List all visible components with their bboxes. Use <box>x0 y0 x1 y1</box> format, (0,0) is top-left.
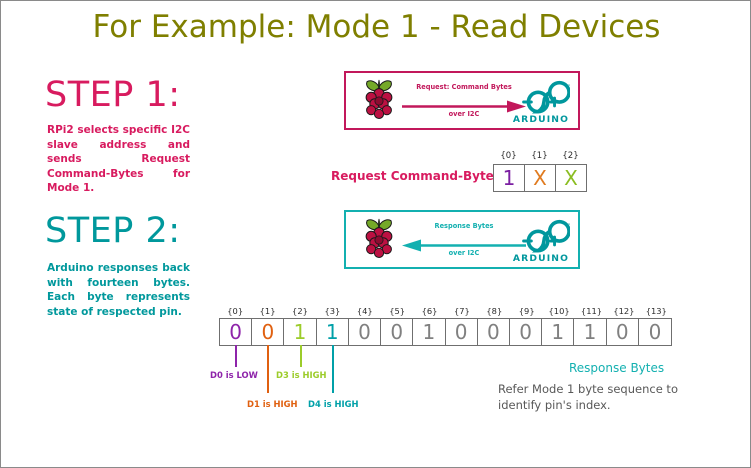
response-byte-cell-7: 0 <box>446 319 478 345</box>
request-arrow-label-top: Request: Command Bytes <box>402 83 526 91</box>
response-byte-sequence: {0} {1} {2} {3} {4} {5} {6} {7} {8} {9} … <box>219 306 672 346</box>
request-byte-cells: 1 X X <box>493 164 587 192</box>
response-arrow-group: Response Bytes over I2C <box>402 220 526 264</box>
request-index-2: {2} <box>555 151 586 161</box>
step-1-body-text: RPi2 selects specific I2C slave address … <box>47 123 190 196</box>
response-index-11: {11} <box>575 306 607 316</box>
request-index-1: {1} <box>524 151 555 161</box>
response-index-5: {5} <box>381 306 413 316</box>
response-byte-cell-1: 0 <box>252 319 284 345</box>
response-byte-cell-4: 0 <box>349 319 381 345</box>
raspberry-pi-icon <box>356 78 402 128</box>
request-diagram-box: Request: Command Bytes over I2C ARDUINO … <box>344 71 580 130</box>
response-byte-cell-10: 1 <box>542 319 574 345</box>
callout-line-d4 <box>332 345 334 393</box>
arduino-icon: ARDUINO ™ <box>512 80 570 128</box>
callout-line-d0 <box>235 345 237 367</box>
request-index-0: {0} <box>493 151 524 161</box>
arduino-wordmark-response: ARDUINO <box>513 253 569 263</box>
response-byte-cell-12: 0 <box>607 319 639 345</box>
response-diagram-box: Response Bytes over I2C ARDUINO ™ <box>344 210 580 269</box>
step-1-heading: STEP 1: <box>45 75 181 115</box>
response-index-8: {8} <box>478 306 510 316</box>
response-index-1: {1} <box>251 306 283 316</box>
response-index-9: {9} <box>511 306 543 316</box>
response-byte-cell-3: 1 <box>317 319 349 345</box>
response-index-4: {4} <box>349 306 381 316</box>
callout-text-d0: D0 is LOW <box>210 370 258 380</box>
response-byte-cell-0: 0 <box>220 319 252 345</box>
response-byte-cell-8: 0 <box>478 319 510 345</box>
request-byte-cell-1: X <box>525 165 556 191</box>
arduino-wordmark-request: ARDUINO <box>513 114 569 124</box>
callout-line-d1 <box>267 345 269 393</box>
response-byte-cell-11: 1 <box>574 319 606 345</box>
svg-text:™: ™ <box>566 223 570 229</box>
response-bytes-caption: Response Bytes <box>569 361 664 375</box>
callout-text-d4: D4 is HIGH <box>308 399 358 409</box>
response-index-7: {7} <box>446 306 478 316</box>
callout-text-d3: D3 is HIGH <box>276 370 326 380</box>
response-index-13: {13} <box>640 306 672 316</box>
step-2-body-text: Arduino responses back with fourteen byt… <box>47 261 190 319</box>
response-byte-cells: 0 0 1 1 0 0 1 0 0 0 1 1 0 0 <box>219 318 672 346</box>
response-arrow-label-top: Response Bytes <box>402 222 526 230</box>
response-byte-cell-5: 0 <box>381 319 413 345</box>
request-command-bytes-label: Request Command-Bytes <box>331 169 501 183</box>
svg-text:™: ™ <box>566 84 570 90</box>
response-index-0: {0} <box>219 306 251 316</box>
response-byte-cell-6: 1 <box>413 319 445 345</box>
response-bytes-note: Refer Mode 1 byte sequence to identify p… <box>498 381 713 413</box>
page-title: For Example: Mode 1 - Read Devices <box>1 9 751 45</box>
arduino-icon: ARDUINO ™ <box>512 219 570 267</box>
request-byte-index-labels: {0} {1} {2} <box>493 151 586 161</box>
raspberry-pi-icon <box>356 217 402 267</box>
response-byte-cell-2: 1 <box>284 319 316 345</box>
request-arrow-label-bottom: over I2C <box>402 110 526 118</box>
callout-text-d1: D1 is HIGH <box>247 399 297 409</box>
response-index-6: {6} <box>413 306 445 316</box>
response-byte-cell-13: 0 <box>639 319 671 345</box>
callout-line-d3 <box>300 345 302 367</box>
request-byte-cell-0: 1 <box>494 165 525 191</box>
response-index-10: {10} <box>543 306 575 316</box>
response-index-2: {2} <box>284 306 316 316</box>
request-arrow-group: Request: Command Bytes over I2C <box>402 81 526 125</box>
response-byte-index-labels: {0} {1} {2} {3} {4} {5} {6} {7} {8} {9} … <box>219 306 672 316</box>
request-byte-cell-2: X <box>556 165 586 191</box>
response-index-12: {12} <box>608 306 640 316</box>
response-index-3: {3} <box>316 306 348 316</box>
response-byte-cell-9: 0 <box>510 319 542 345</box>
response-arrow-label-bottom: over I2C <box>402 249 526 257</box>
step-2-heading: STEP 2: <box>45 211 181 251</box>
slide-canvas: For Example: Mode 1 - Read Devices STEP … <box>0 0 751 468</box>
